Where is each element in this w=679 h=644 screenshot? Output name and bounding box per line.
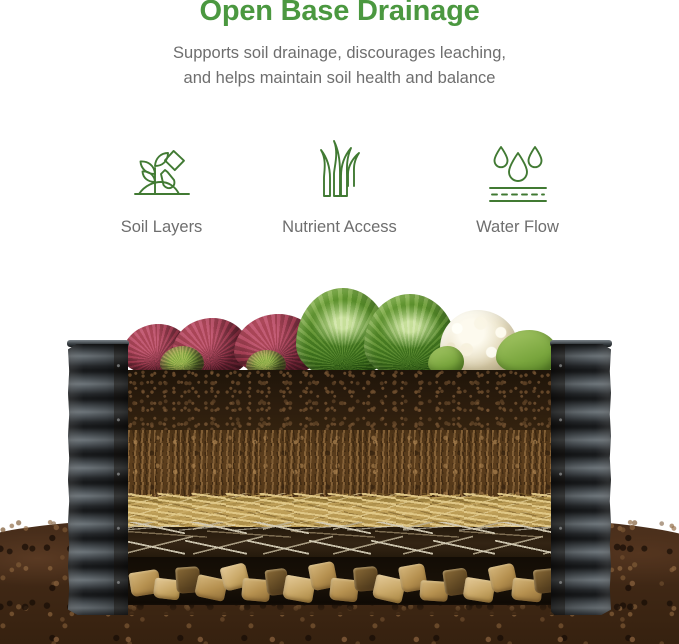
soil-layer-compost [128,430,551,497]
feature-nutrient-access: Nutrient Access [251,130,429,239]
subtitle-line-2: and helps maintain soil health and balan… [0,66,679,91]
soil-layer-wood-chunks [128,557,551,605]
feature-list: Soil Layers Nutrient Access [0,130,679,239]
subtitle-line-1: Supports soil drainage, discourages leac… [0,41,679,66]
feature-soil-layers: Soil Layers [73,130,251,239]
plant-row [128,284,551,376]
product-feature-graphic: Open Base Drainage Supports soil drainag… [0,0,679,644]
feature-label: Nutrient Access [251,215,429,239]
corrugated-panel-right [551,344,611,615]
feature-label: Water Flow [429,215,607,239]
soil-cross-section [128,370,551,615]
bed-base-blend [128,603,551,615]
feature-label: Soil Layers [73,215,251,239]
feature-water-flow: Water Flow [429,130,607,239]
page-subtitle: Supports soil drainage, discourages leac… [0,41,679,91]
soil-layer-topsoil [128,370,551,430]
page-title: Open Base Drainage [0,0,679,28]
soil-layer-twigs [128,527,551,557]
raised-garden-bed-cutaway [0,278,679,644]
seedling-shovel-icon [73,130,251,204]
water-droplets-icon [429,130,607,204]
grass-blades-icon [251,130,429,204]
corrugated-panel-left [68,344,128,615]
